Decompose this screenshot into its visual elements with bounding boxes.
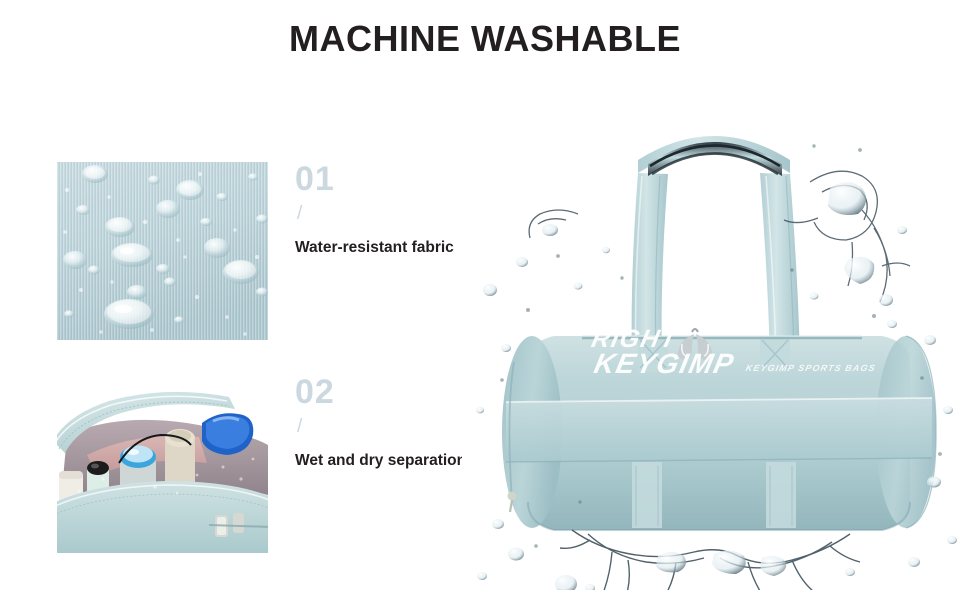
water-beading-fabric-photo bbox=[57, 162, 268, 340]
feature-separator: / bbox=[297, 204, 454, 223]
svg-text:KEYGIMP SPORTS BAGS: KEYGIMP SPORTS BAGS bbox=[745, 363, 877, 373]
feature-number: 01 bbox=[295, 162, 454, 196]
svg-text:KEYGIMP: KEYGIMP bbox=[592, 347, 738, 379]
product-feature-page: MACHINE WASHABLE bbox=[0, 0, 970, 600]
duffel-bag-water-splash-photo: RIGHT KEYGIMP KEYGIMP SPORTS BAGS bbox=[462, 110, 970, 590]
wet-dry-compartment-photo bbox=[57, 375, 268, 553]
page-title: MACHINE WASHABLE bbox=[0, 18, 970, 60]
feature-caption: Water-resistant fabric bbox=[295, 239, 454, 257]
feature-text-01: 01 / Water-resistant fabric bbox=[295, 162, 454, 257]
